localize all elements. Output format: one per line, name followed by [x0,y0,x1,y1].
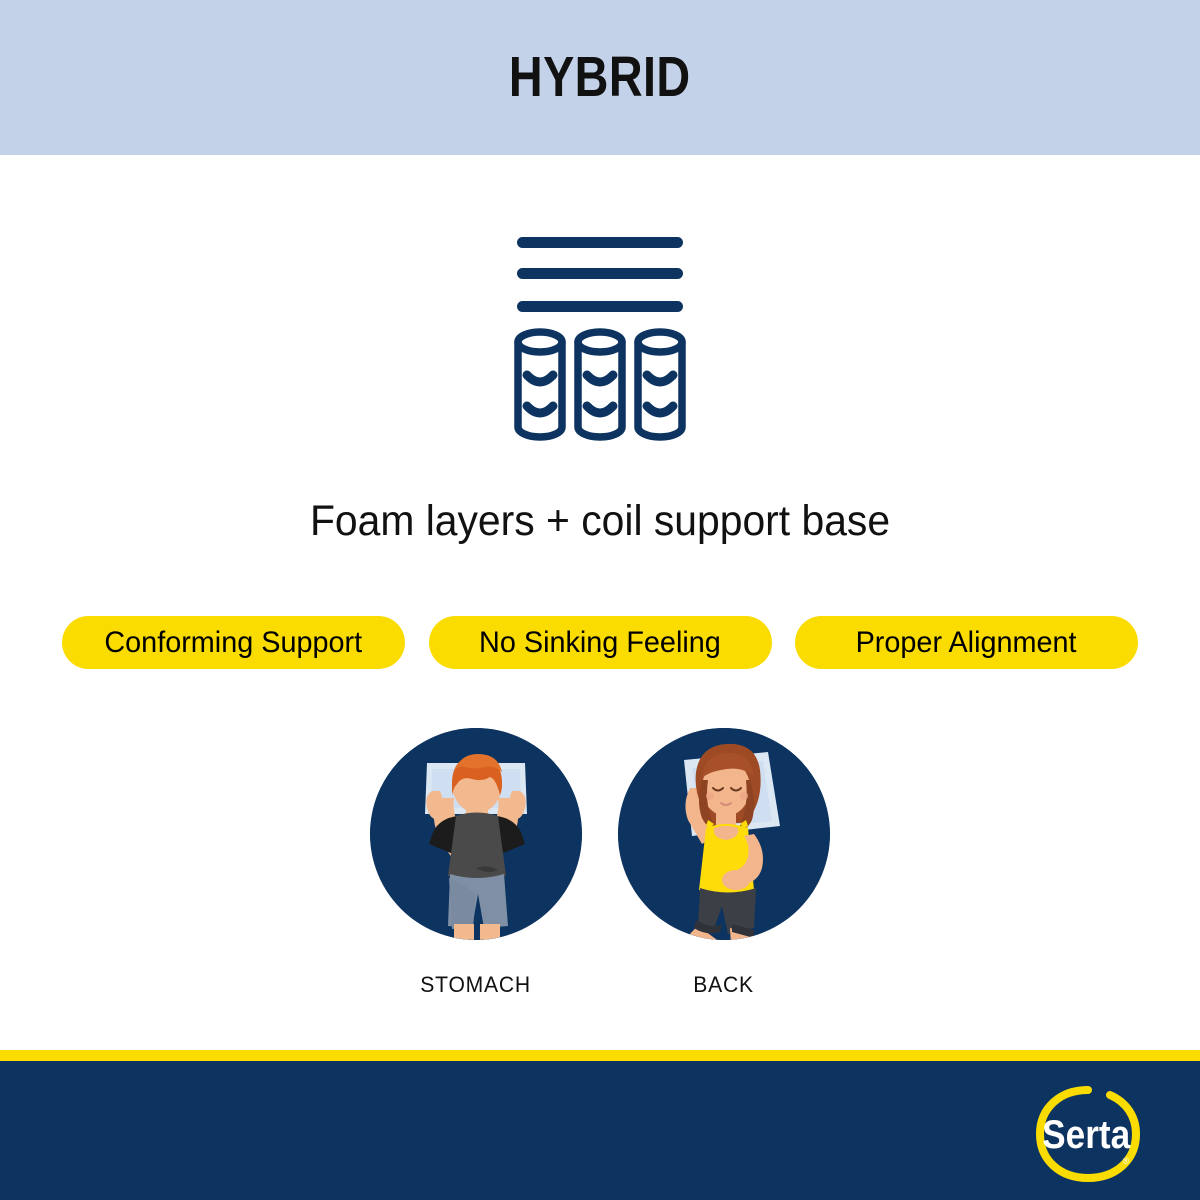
mattress-description: Foam layers + coil support base [30,497,1170,546]
benefit-pill-label: Proper Alignment [856,628,1077,658]
page-title: HYBRID [509,49,691,106]
serta-logo[interactable]: Serta ® [1036,1086,1140,1182]
benefit-pill-row: Conforming Support No Sinking Feeling Pr… [62,616,1138,669]
footer-accent-stripe [0,1050,1200,1061]
header-band: HYBRID [0,0,1200,155]
sleep-positions-row: STOMACH [0,728,1200,998]
sleep-position-stomach: STOMACH [370,728,582,998]
benefit-pill-conforming-support[interactable]: Conforming Support [62,616,405,669]
serta-wordmark: Serta [1042,1112,1131,1157]
sleep-position-label-back: BACK [694,972,755,998]
registered-mark: ® [1123,1156,1130,1166]
benefit-pill-label: No Sinking Feeling [479,628,721,658]
back-sleeper-illustration [618,728,830,940]
benefit-pill-no-sinking-feeling[interactable]: No Sinking Feeling [429,616,772,669]
sleep-position-label-stomach: STOMACH [421,972,532,998]
sleep-position-back: BACK [618,728,830,998]
stomach-sleeper-illustration [370,728,582,940]
benefit-pill-label: Conforming Support [105,628,363,658]
hybrid-mattress-layers-icon [0,218,1200,458]
footer-band [0,1061,1200,1200]
benefit-pill-proper-alignment[interactable]: Proper Alignment [795,616,1138,669]
infographic-page: HYBRID [0,0,1200,1200]
